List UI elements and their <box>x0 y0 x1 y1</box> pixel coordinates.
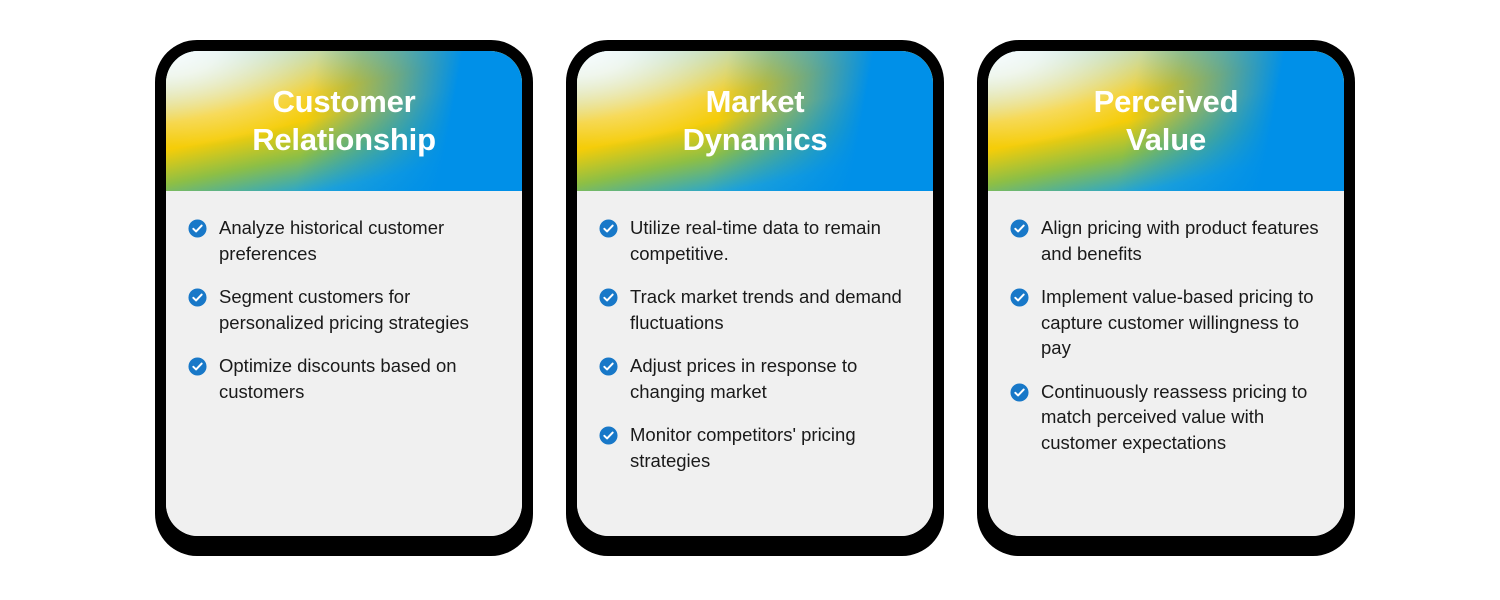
bullet-list: Utilize real-time data to remain competi… <box>599 215 911 473</box>
list-item: Utilize real-time data to remain competi… <box>599 215 911 266</box>
check-circle-icon <box>599 288 618 307</box>
card-body: Analyze historical customer preferences … <box>166 191 522 536</box>
list-item: Continuously reassess pricing to match p… <box>1010 379 1322 456</box>
bullet-list: Align pricing with product features and … <box>1010 215 1322 455</box>
cards-board: Customer Relationship Analyze historical… <box>0 0 1500 600</box>
list-item-text: Utilize real-time data to remain competi… <box>630 215 911 266</box>
list-item-text: Align pricing with product features and … <box>1041 215 1322 266</box>
list-item-text: Optimize discounts based on customers <box>219 353 500 404</box>
check-circle-icon <box>599 426 618 445</box>
check-circle-icon <box>599 357 618 376</box>
card-body: Align pricing with product features and … <box>988 191 1344 536</box>
list-item: Track market trends and demand fluctuati… <box>599 284 911 335</box>
check-circle-icon <box>1010 219 1029 238</box>
card-customer-relationship[interactable]: Customer Relationship Analyze historical… <box>155 40 533 556</box>
list-item-text: Monitor competitors' pricing strategies <box>630 422 911 473</box>
check-circle-icon <box>1010 383 1029 402</box>
card-title: Customer Relationship <box>236 83 452 159</box>
list-item: Implement value-based pricing to capture… <box>1010 284 1322 361</box>
card-header: Market Dynamics <box>577 51 933 191</box>
check-circle-icon <box>188 219 207 238</box>
list-item-text: Implement value-based pricing to capture… <box>1041 284 1322 361</box>
check-circle-icon <box>188 288 207 307</box>
list-item-text: Track market trends and demand fluctuati… <box>630 284 911 335</box>
card-title: Perceived Value <box>1078 83 1255 159</box>
check-circle-icon <box>599 219 618 238</box>
list-item-text: Adjust prices in response to changing ma… <box>630 353 911 404</box>
card-body: Utilize real-time data to remain competi… <box>577 191 933 536</box>
list-item: Optimize discounts based on customers <box>188 353 500 404</box>
check-circle-icon <box>188 357 207 376</box>
list-item-text: Analyze historical customer preferences <box>219 215 500 266</box>
card-header: Customer Relationship <box>166 51 522 191</box>
bullet-list: Analyze historical customer preferences … <box>188 215 500 404</box>
list-item: Analyze historical customer preferences <box>188 215 500 266</box>
list-item: Segment customers for personalized prici… <box>188 284 500 335</box>
card-inner: Customer Relationship Analyze historical… <box>166 51 522 536</box>
card-title: Market Dynamics <box>667 83 844 159</box>
list-item-text: Segment customers for personalized prici… <box>219 284 500 335</box>
list-item: Align pricing with product features and … <box>1010 215 1322 266</box>
cards-row: Customer Relationship Analyze historical… <box>155 40 1355 560</box>
card-header: Perceived Value <box>988 51 1344 191</box>
list-item: Adjust prices in response to changing ma… <box>599 353 911 404</box>
card-inner: Perceived Value Align pricing with produ… <box>988 51 1344 536</box>
card-perceived-value[interactable]: Perceived Value Align pricing with produ… <box>977 40 1355 556</box>
list-item-text: Continuously reassess pricing to match p… <box>1041 379 1322 456</box>
card-market-dynamics[interactable]: Market Dynamics Utilize real-time data t… <box>566 40 944 556</box>
card-inner: Market Dynamics Utilize real-time data t… <box>577 51 933 536</box>
check-circle-icon <box>1010 288 1029 307</box>
list-item: Monitor competitors' pricing strategies <box>599 422 911 473</box>
